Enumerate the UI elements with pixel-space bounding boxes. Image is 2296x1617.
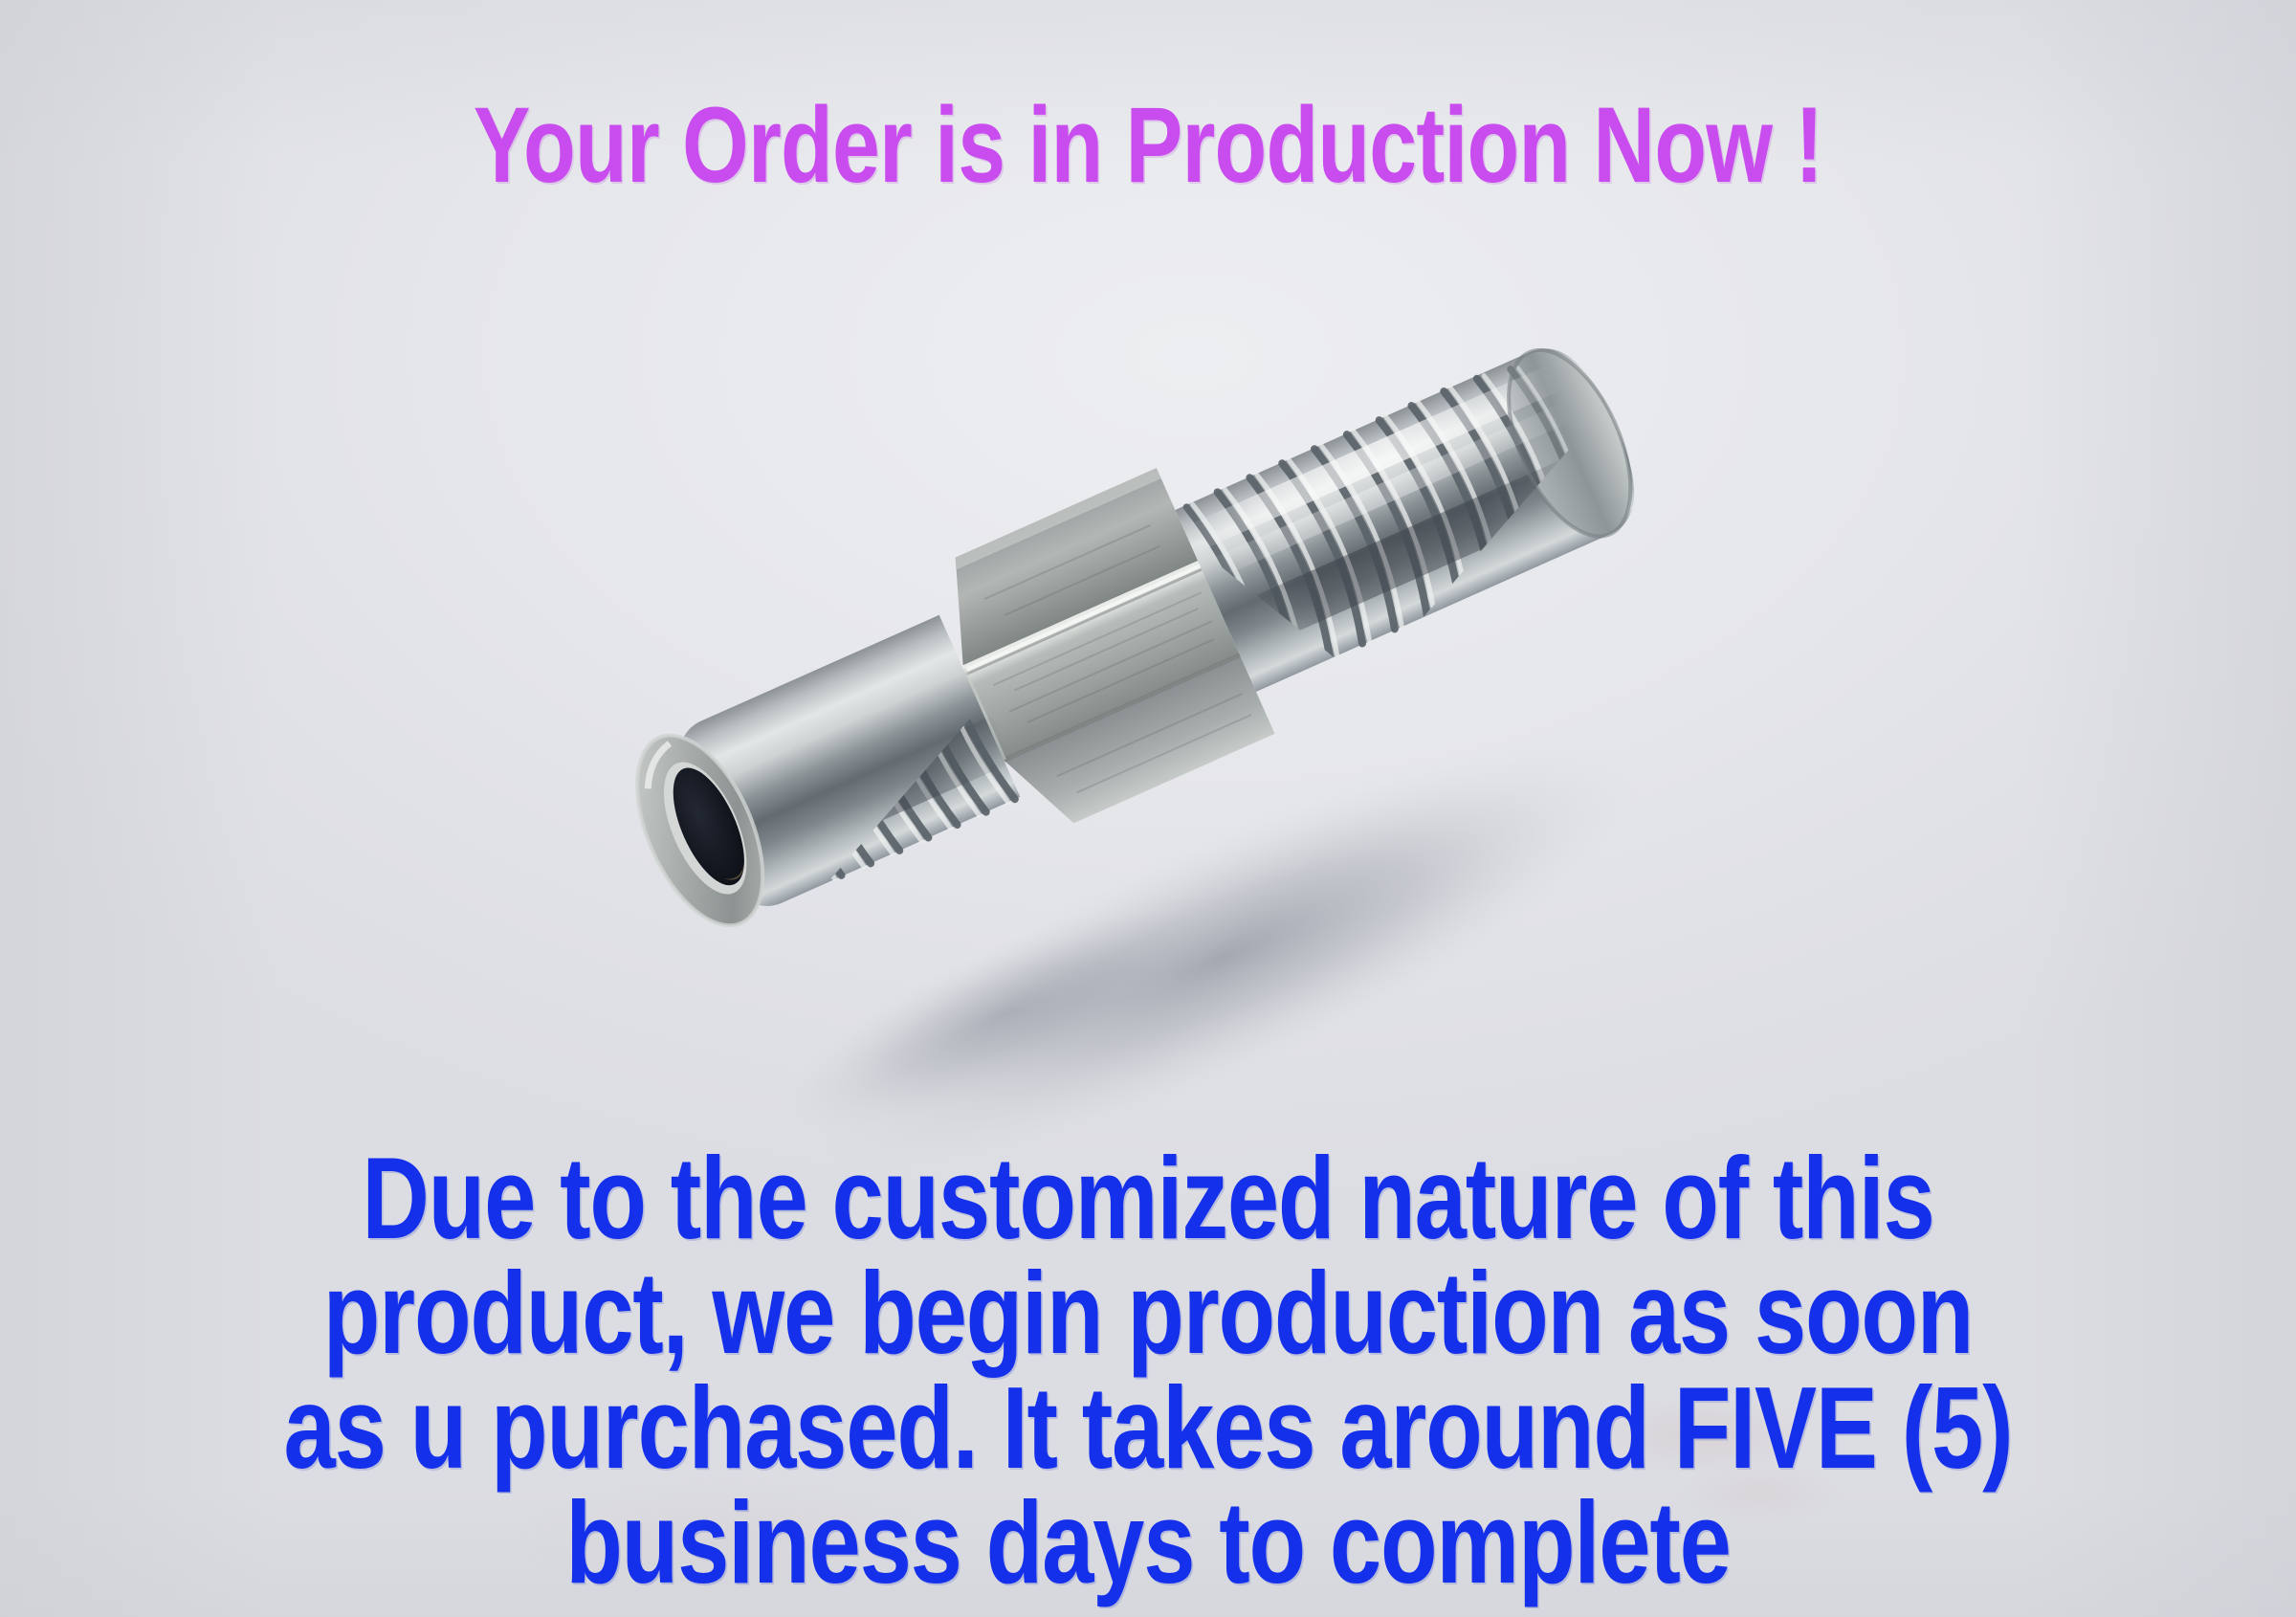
right-threaded-section <box>1175 344 1655 692</box>
notice-line-2: product, we begin production as soon <box>230 1255 2066 1370</box>
promo-banner: Your Order is in Production Now ! <box>0 0 2296 1617</box>
notice-line-4: business days to complete <box>230 1485 2066 1600</box>
product-photo-hex-nipple <box>593 344 1722 1206</box>
hex-nipple-illustration <box>593 344 1722 1206</box>
headline-order-in-production: Your Order is in Production Now ! <box>230 92 2066 199</box>
notice-line-3: as u purchased. It takes around FIVE (5) <box>230 1370 2066 1485</box>
notice-line-1: Due to the customized nature of this <box>230 1141 2066 1255</box>
production-notice: Due to the customized nature of this pro… <box>0 1141 2296 1600</box>
